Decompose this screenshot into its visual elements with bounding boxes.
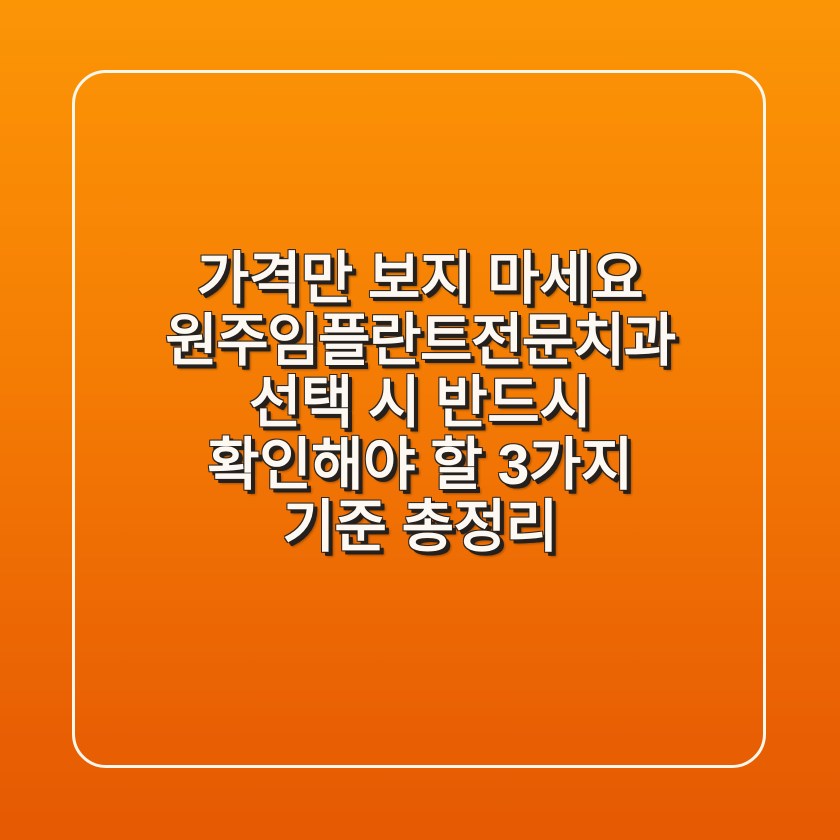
headline-line-2: 원주임플란트전문치과 — [36, 310, 804, 372]
headline-line-3: 선택 시 반드시 — [36, 372, 804, 434]
headline-text-block: 가격만 보지 마세요 원주임플란트전문치과 선택 시 반드시 확인해야 할 3가… — [0, 248, 840, 558]
headline-line-1: 가격만 보지 마세요 — [36, 248, 804, 310]
headline-line-5: 기준 총정리 — [36, 496, 804, 558]
headline-line-4: 확인해야 할 3가지 — [36, 434, 804, 496]
poster-canvas: 가격만 보지 마세요 원주임플란트전문치과 선택 시 반드시 확인해야 할 3가… — [0, 0, 840, 840]
